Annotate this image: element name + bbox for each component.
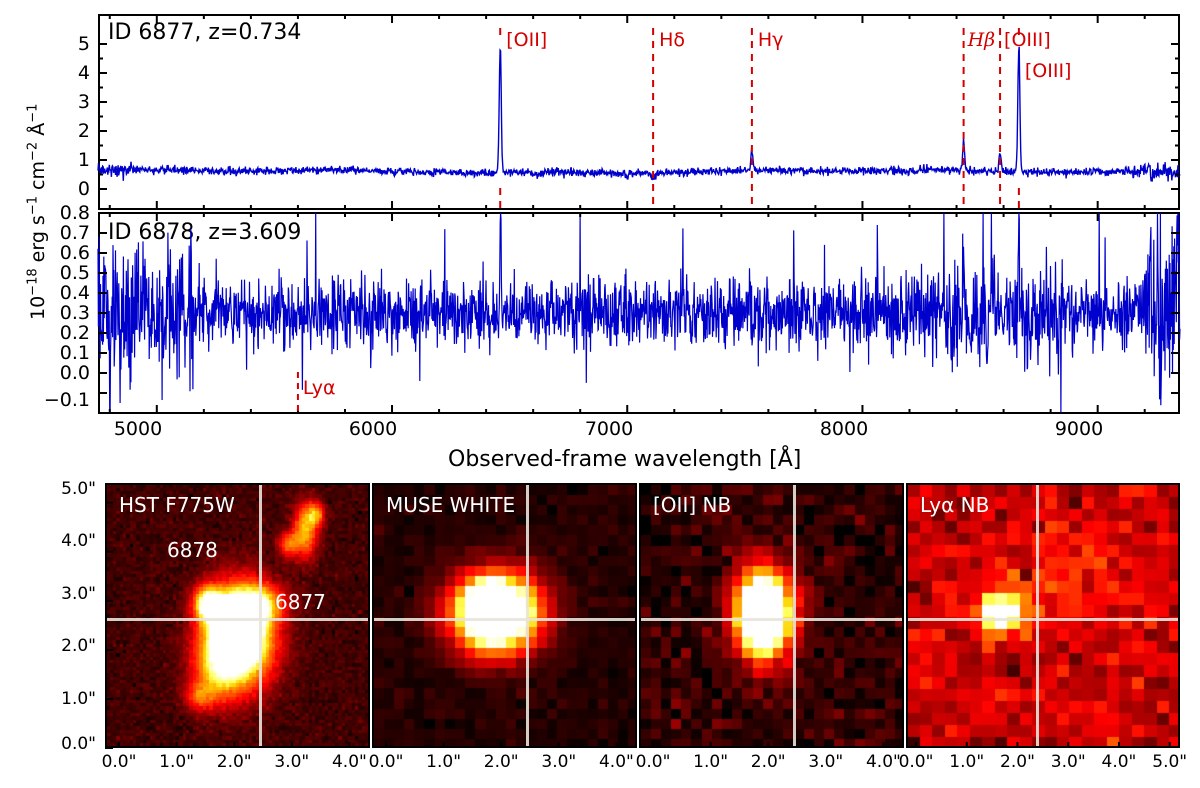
cut-y-tick-1: 1.0" <box>38 689 96 709</box>
y-tick-a-3: 3 <box>58 91 90 113</box>
cutout-0-x-tick-3: 3.0" <box>274 752 309 772</box>
y-tick-a-4: 4 <box>58 62 90 84</box>
y-tick-b-0.0: 0.0 <box>40 362 90 384</box>
line-label-oii-0: [OII] <box>506 29 547 51</box>
y-tick-a-0: 0 <box>58 178 90 200</box>
cutout-0-x-tick-0: 0.0" <box>102 752 137 772</box>
y-tick-b--0.1: −0.1 <box>34 389 90 411</box>
y-tick-a-2: 2 <box>58 120 90 142</box>
cutout-3-x-tick-3: 3.0" <box>1051 752 1086 772</box>
cutout-0-x-tick-1: 1.0" <box>159 752 194 772</box>
x-tick-6000: 6000 <box>349 418 397 440</box>
cutout-2-x-tick-0: 0.0" <box>636 752 671 772</box>
line-label-hβ-3: Hβ <box>968 29 996 51</box>
x-tick-8000: 8000 <box>820 418 868 440</box>
cutout-lya-nb: Lyα NB <box>906 483 1180 748</box>
y-tick-b-0.4: 0.4 <box>40 282 90 304</box>
cutout-0-x-tick-2: 2.0" <box>217 752 252 772</box>
cutout-2-x-tick-2: 2.0" <box>751 752 786 772</box>
cutout-1-x-tick-1: 1.0" <box>426 752 461 772</box>
line-label-hγ-2: Hγ <box>758 29 784 51</box>
cutout-label: MUSE WHITE <box>386 493 515 517</box>
cut-y-tick-2: 2.0" <box>38 636 96 656</box>
cutout-oii-nb: [OII] NB <box>639 483 904 748</box>
cutout-3-x-tick-5: 5.0" <box>1152 752 1187 772</box>
x-tick-9000: 9000 <box>1055 418 1103 440</box>
line-label-hδ-1: Hδ <box>659 29 685 51</box>
cutout-label: HST F775W <box>119 493 235 517</box>
crosshair-vertical <box>1036 485 1039 746</box>
spectrum-6878-title: ID 6878, z=3.609 <box>108 220 301 245</box>
line-label-oiii-4: [OIII] <box>1004 29 1051 51</box>
cutout-1-x-tick-3: 3.0" <box>541 752 576 772</box>
x-axis-label: Observed-frame wavelength [Å] <box>448 447 801 472</box>
cutout-1-x-tick-2: 2.0" <box>484 752 519 772</box>
crosshair-horizontal <box>908 618 1178 621</box>
cutout-2-x-tick-1: 1.0" <box>693 752 728 772</box>
galaxy-annotation-6877: 6877 <box>275 590 326 614</box>
cutout-3-x-tick-1: 1.0" <box>949 752 984 772</box>
line-label-lyalpha: Lyα <box>303 377 336 399</box>
crosshair-horizontal <box>641 618 902 621</box>
cutout-3-x-tick-4: 4.0" <box>1102 752 1137 772</box>
x-tick-5000: 5000 <box>114 418 162 440</box>
line-label-oiii-5: [OIII] <box>1025 60 1072 82</box>
y-tick-a-5: 5 <box>58 33 90 55</box>
cutout-label: [OII] NB <box>653 493 731 517</box>
y-tick-b-0.5: 0.5 <box>40 262 90 284</box>
cutout-muse-white: MUSE WHITE <box>372 483 637 748</box>
cutout-0-x-tick-4: 4.0" <box>332 752 367 772</box>
cutout-1-x-tick-0: 0.0" <box>369 752 404 772</box>
y-tick-b-0.1: 0.1 <box>40 342 90 364</box>
x-tick-7000: 7000 <box>585 418 633 440</box>
figure-root: 10−18 erg s−1 cm−2 Å−1 ID 6877, z=0.734 … <box>0 0 1200 788</box>
y-tick-b-0.3: 0.3 <box>40 302 90 324</box>
cutout-3-x-tick-2: 2.0" <box>1000 752 1035 772</box>
cut-y-tick-4: 4.0" <box>38 531 96 551</box>
crosshair-horizontal <box>107 618 368 621</box>
y-tick-b-0.8: 0.8 <box>40 202 90 224</box>
y-tick-b-0.6: 0.6 <box>40 242 90 264</box>
spectrum-6877-title: ID 6877, z=0.734 <box>108 20 301 45</box>
crosshair-horizontal <box>374 618 635 621</box>
y-tick-b-0.7: 0.7 <box>40 222 90 244</box>
cut-y-tick-3: 3.0" <box>38 584 96 604</box>
y-tick-b-0.2: 0.2 <box>40 322 90 344</box>
cutout-label: Lyα NB <box>920 493 989 517</box>
cutout-2-x-tick-4: 4.0" <box>866 752 901 772</box>
cutout-3-x-tick-0: 0.0" <box>899 752 934 772</box>
cut-y-tick-5: 5.0" <box>38 479 96 499</box>
crosshair-vertical <box>526 485 529 746</box>
cutout-1-x-tick-4: 4.0" <box>599 752 634 772</box>
cutout-2-x-tick-3: 3.0" <box>808 752 843 772</box>
cutout-hst-f775w: HST F775W 6878 6877 <box>105 483 370 748</box>
y-tick-a-1: 1 <box>58 149 90 171</box>
crosshair-vertical <box>259 485 262 746</box>
cut-y-tick-0: 0.0" <box>38 734 96 754</box>
crosshair-vertical <box>793 485 796 746</box>
galaxy-annotation-6878: 6878 <box>167 538 218 562</box>
